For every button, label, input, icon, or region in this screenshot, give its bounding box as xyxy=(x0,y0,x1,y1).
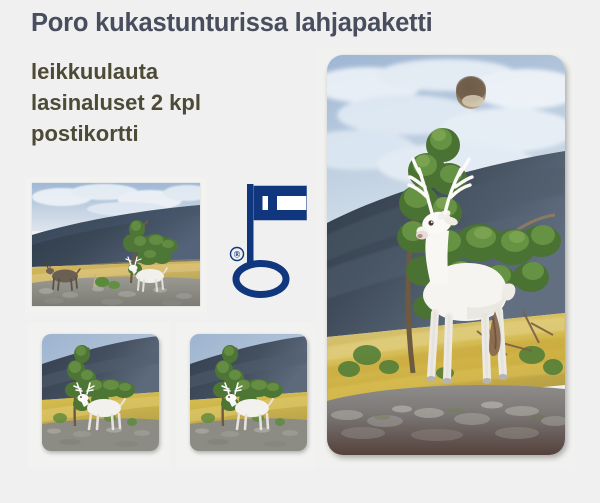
coaster-photo-2[interactable] xyxy=(190,334,307,451)
registered-trademark-icon: ® xyxy=(231,248,244,261)
coaster-photo-1[interactable] xyxy=(42,334,159,451)
finnish-flag-icon xyxy=(254,186,307,220)
registered-mark-glyph: ® xyxy=(234,250,241,260)
page-title: Poro kukastunturissa lahjapaketti xyxy=(31,8,571,40)
cutting-board-scene-illustration xyxy=(327,55,565,455)
package-contents-list: leikkuulauta lasinaluset 2 kpl postikort… xyxy=(31,56,301,150)
avainlippu-badge: ® xyxy=(227,178,311,304)
coaster-scene-illustration-1 xyxy=(42,334,159,451)
postcard-product-panel[interactable] xyxy=(25,177,207,313)
product-page: Poro kukastunturissa lahjapaketti leikku… xyxy=(0,0,600,503)
cutting-board-product-panel[interactable] xyxy=(315,48,575,466)
key-flag-icon: ® xyxy=(227,178,311,304)
coaster-product-panel-2[interactable] xyxy=(176,322,318,468)
postcard-photo[interactable] xyxy=(32,183,200,306)
contents-item-coasters: lasinaluset 2 kpl xyxy=(31,87,301,118)
postcard-scene-illustration xyxy=(32,183,200,306)
coaster-product-panel-1[interactable] xyxy=(28,322,170,468)
coaster-scene-illustration-2 xyxy=(190,334,307,451)
contents-item-postcard: postikortti xyxy=(31,118,301,149)
contents-item-cutting-board: leikkuulauta xyxy=(31,56,301,87)
hanging-hole xyxy=(456,76,486,109)
cutting-board-photo[interactable] xyxy=(327,55,565,455)
